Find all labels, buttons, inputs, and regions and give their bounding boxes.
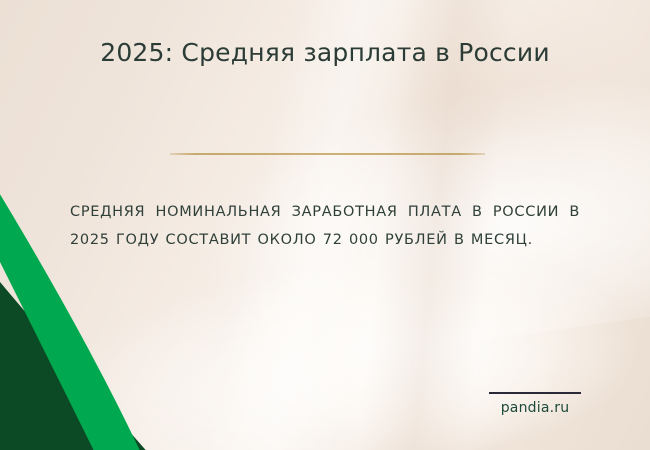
page-title: 2025: Средняя зарплата в России — [0, 38, 650, 67]
title-divider — [170, 153, 485, 155]
footer: pandia.ru — [470, 392, 600, 416]
slide-canvas: 2025: Средняя зарплата в России СРЕДНЯЯ … — [0, 0, 650, 450]
body-paragraph: СРЕДНЯЯ НОМИНАЛЬНАЯ ЗАРАБОТНАЯ ПЛАТА В Р… — [70, 198, 580, 254]
footer-source-label: pandia.ru — [470, 400, 600, 416]
footer-divider — [489, 392, 581, 394]
